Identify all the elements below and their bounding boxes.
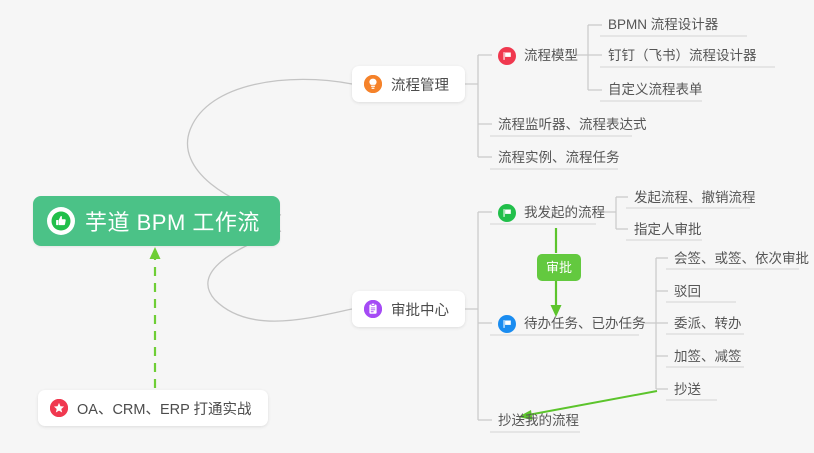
footer-note-card[interactable]: OA、CRM、ERP 打通实战 <box>38 390 268 426</box>
node-label-bpmn-designer: BPMN 流程设计器 <box>608 16 718 34</box>
node-process-model[interactable]: 流程模型 <box>490 44 586 70</box>
node-custom-process-form[interactable]: 自定义流程表单 <box>600 78 711 104</box>
node-label-cc-to-me-process: 抄送我的流程 <box>498 412 579 430</box>
flag-icon <box>498 47 516 65</box>
node-todo-done-tasks[interactable]: 待办任务、已办任务 <box>490 312 654 338</box>
node-bpmn-designer[interactable]: BPMN 流程设计器 <box>600 13 726 39</box>
node-label-countersign-or-sequential: 会签、或签、依次审批 <box>674 250 809 268</box>
node-dingtalk-feishu-designer[interactable]: 钉钉（飞书）流程设计器 <box>600 44 765 70</box>
node-process-listener-expression[interactable]: 流程监听器、流程表达式 <box>490 113 655 139</box>
node-label-add-remove-sign: 加签、减签 <box>674 348 742 366</box>
thumbs-up-icon <box>47 207 75 235</box>
lightbulb-icon <box>364 75 382 93</box>
node-label-delegate-transfer: 委派、转办 <box>674 315 742 333</box>
node-label-my-started-process: 我发起的流程 <box>524 204 605 222</box>
node-countersign-or-sequential[interactable]: 会签、或签、依次审批 <box>666 247 814 273</box>
approval-pill[interactable]: 审批 <box>537 254 581 281</box>
node-delegate-transfer[interactable]: 委派、转办 <box>666 312 750 338</box>
node-add-remove-sign[interactable]: 加签、减签 <box>666 345 750 371</box>
branch-label-process-management: 流程管理 <box>391 74 449 95</box>
flag-icon <box>498 315 516 333</box>
node-label-process-instance-task: 流程实例、流程任务 <box>498 149 620 167</box>
node-start-cancel-process[interactable]: 发起流程、撤销流程 <box>626 186 764 212</box>
flag-icon <box>498 204 516 222</box>
approval-pill-label: 审批 <box>546 261 572 274</box>
node-label-reject: 驳回 <box>674 283 701 301</box>
branch-card-process-management[interactable]: 流程管理 <box>352 66 465 102</box>
node-label-process-model: 流程模型 <box>524 47 578 65</box>
node-label-cc: 抄送 <box>674 381 701 399</box>
node-label-dingtalk-feishu-designer: 钉钉（飞书）流程设计器 <box>608 47 757 65</box>
node-label-process-listener-expression: 流程监听器、流程表达式 <box>498 116 647 134</box>
arrow-oa-to-root <box>150 247 161 388</box>
node-assignee-approval[interactable]: 指定人审批 <box>626 218 710 244</box>
clipboard-icon <box>364 300 382 318</box>
root-label: 芋道 BPM 工作流 <box>85 205 260 237</box>
node-label-start-cancel-process: 发起流程、撤销流程 <box>634 189 756 207</box>
mindmap-canvas: 芋道 BPM 工作流 流程管理 审批中心 <box>0 0 814 453</box>
node-process-instance-task[interactable]: 流程实例、流程任务 <box>490 146 628 172</box>
branch-label-approval-center: 审批中心 <box>391 299 449 320</box>
branch-card-approval-center[interactable]: 审批中心 <box>352 291 465 327</box>
node-label-custom-process-form: 自定义流程表单 <box>608 81 703 99</box>
node-label-todo-done-tasks: 待办任务、已办任务 <box>524 315 646 333</box>
node-label-assignee-approval: 指定人审批 <box>634 221 702 239</box>
star-icon <box>50 399 68 417</box>
node-my-started-process[interactable]: 我发起的流程 <box>490 201 613 227</box>
node-cc[interactable]: 抄送 <box>666 378 709 404</box>
node-reject[interactable]: 驳回 <box>666 280 709 306</box>
node-cc-to-me-process[interactable]: 抄送我的流程 <box>490 409 587 435</box>
footer-note-label: OA、CRM、ERP 打通实战 <box>77 398 252 419</box>
link-root-process <box>187 79 352 215</box>
root-node[interactable]: 芋道 BPM 工作流 <box>33 196 280 246</box>
